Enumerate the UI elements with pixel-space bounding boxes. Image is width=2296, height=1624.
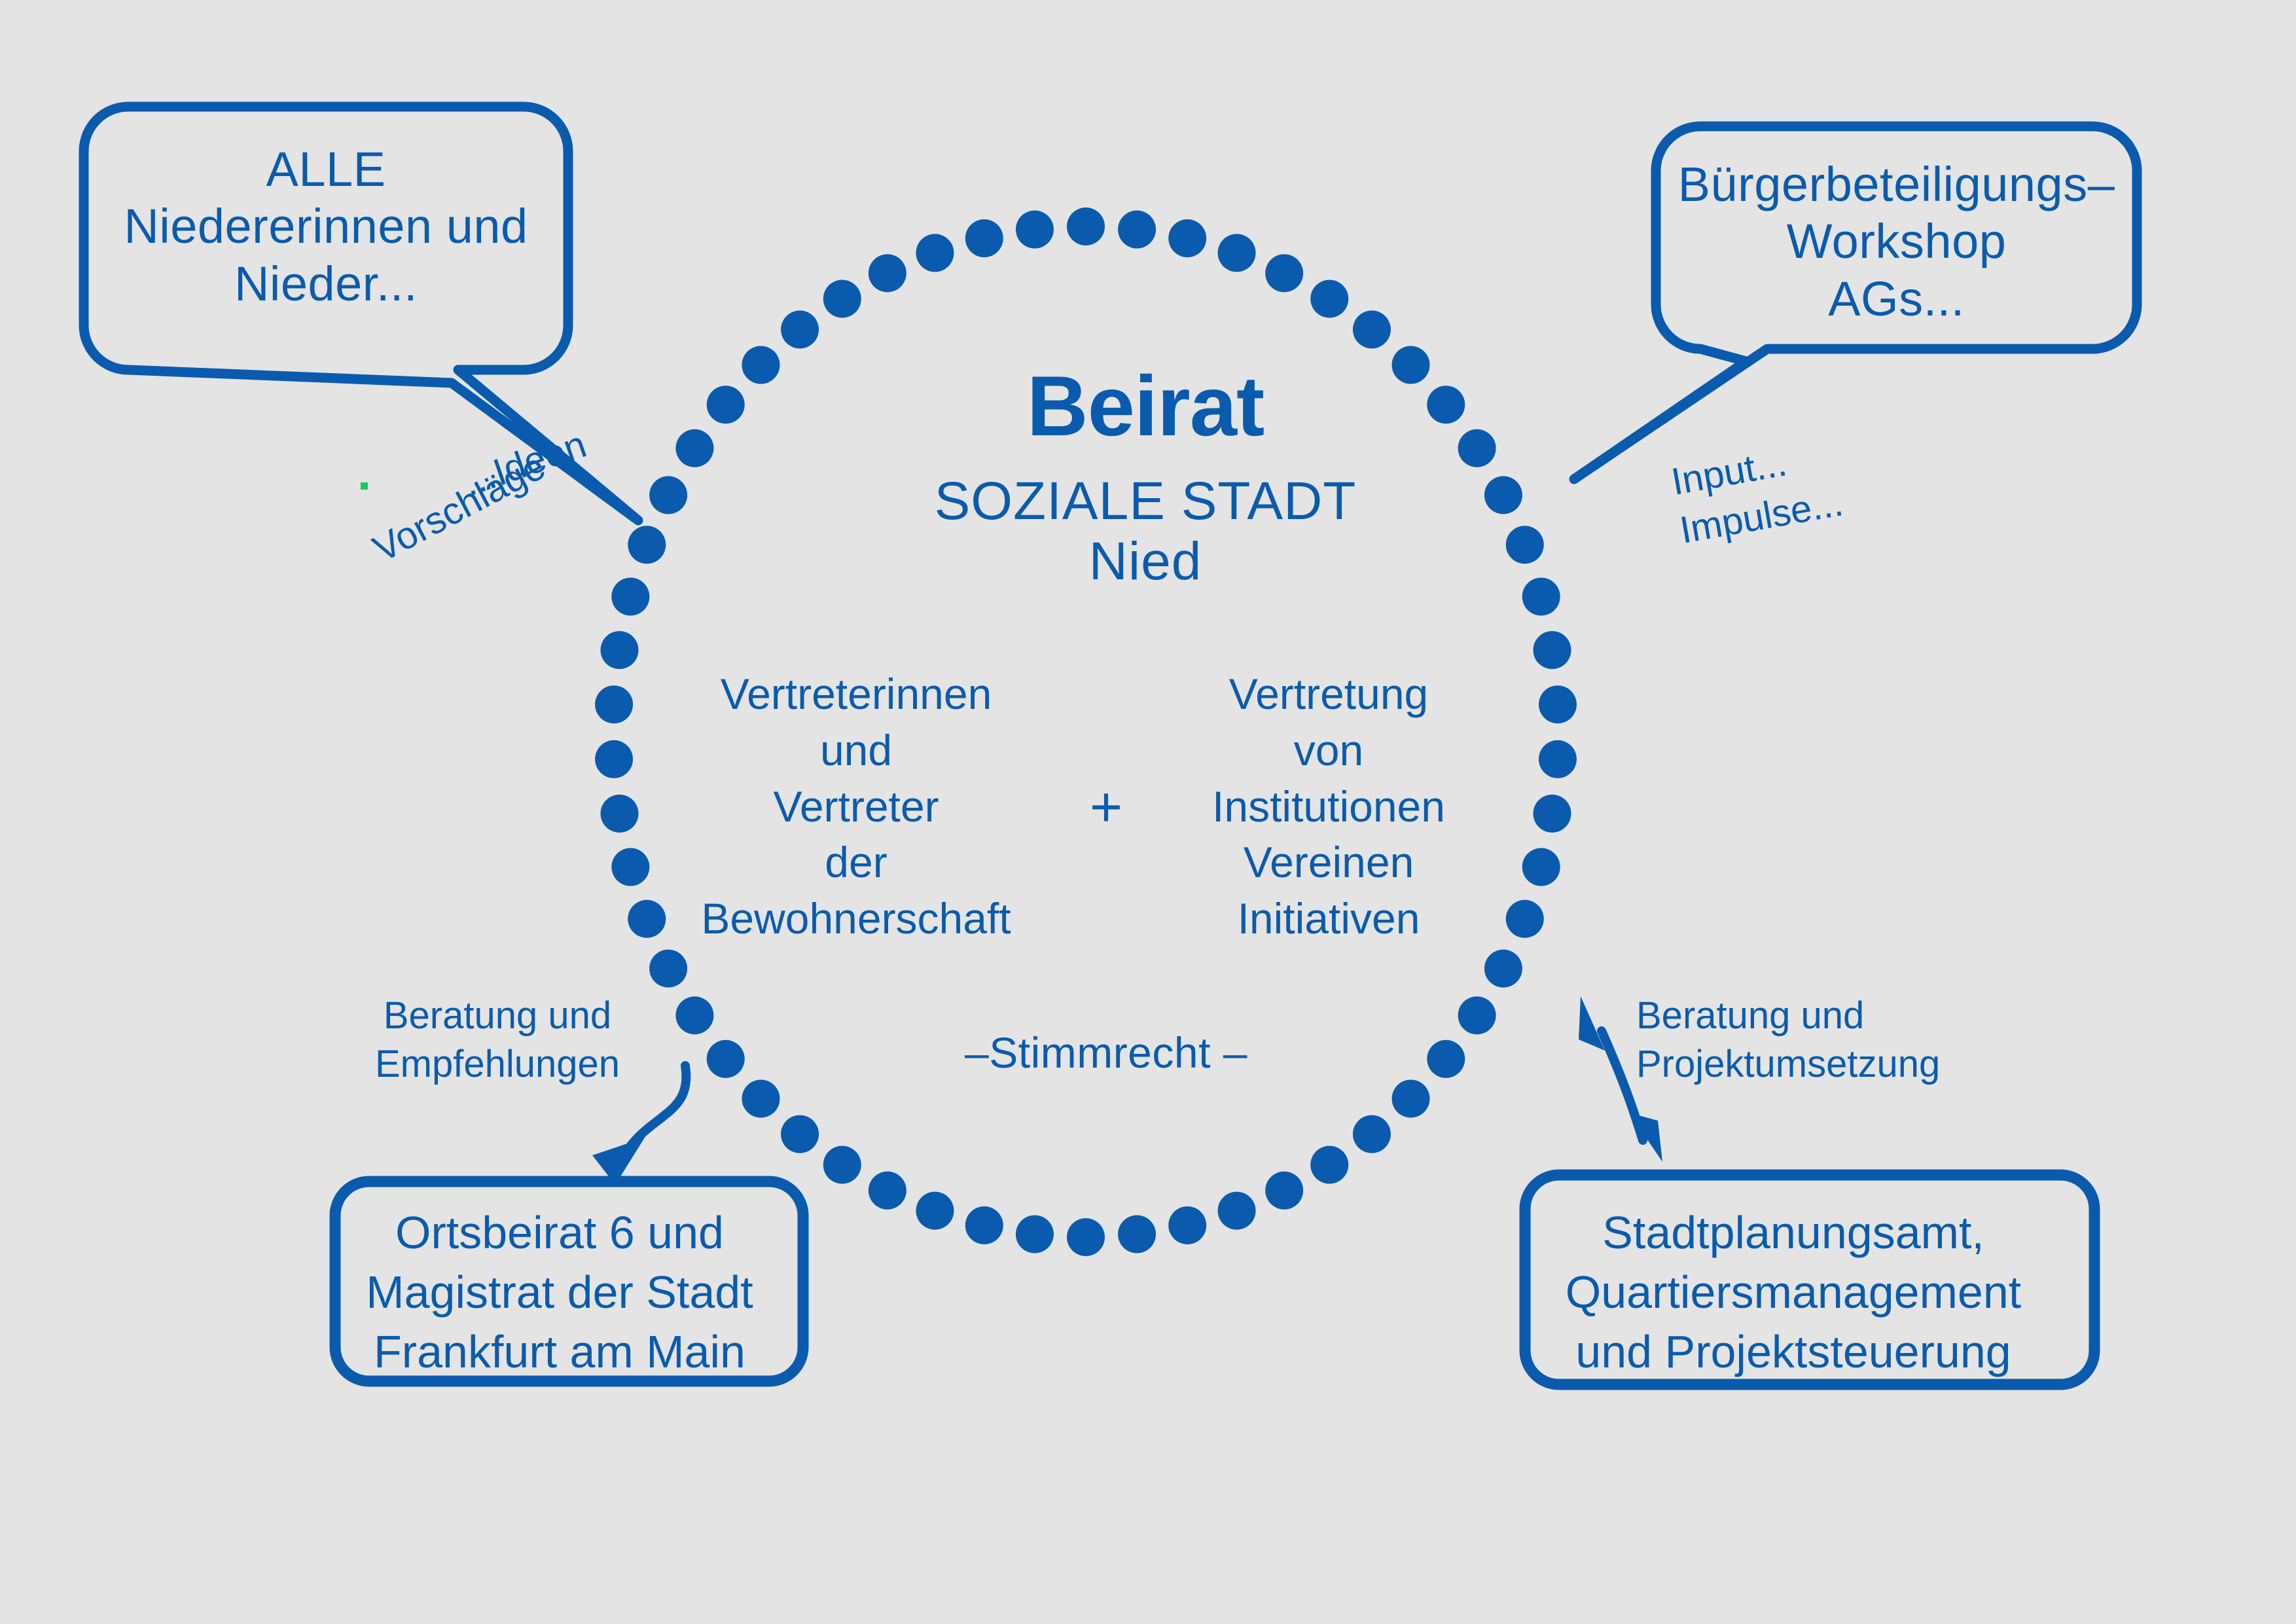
circle-dot: [649, 476, 687, 514]
bubble-left-line1: ALLE: [84, 141, 568, 198]
circle-dot: [628, 900, 666, 938]
center-subtitle: SOZIALE STADT Nied: [818, 471, 1473, 592]
text-line-1: Vertretung: [1172, 666, 1486, 723]
circle-dot: [1539, 740, 1577, 778]
text-line-2: und: [673, 723, 1039, 779]
speech-bubble-top-left: ALLE Niedererinnen und Nieder...: [84, 141, 568, 312]
center-title: Beirat: [851, 363, 1440, 448]
circle-dot: [611, 577, 649, 615]
circle-dot: [1168, 219, 1206, 257]
circle-dot: [1265, 254, 1303, 292]
circle-dot: [742, 1079, 780, 1117]
box-left-line2: Magistrat der Stadt: [331, 1263, 789, 1322]
center-column-right: VertretungvonInstitutionenVereinenInitia…: [1172, 666, 1486, 947]
speech-bubble-top-right: Bürgerbeteiligungs– Workshop AGs...: [1656, 156, 2137, 327]
text-line-5: Bewohnerschaft: [673, 891, 1039, 947]
circle-dot: [781, 310, 819, 348]
circle-dot: [1353, 310, 1391, 348]
arrowhead-up-right: [1579, 996, 1605, 1051]
text-line-3: Vertreter: [673, 779, 1039, 835]
diagram-canvas: ALLE Niedererinnen und Nieder... Bürgerb…: [0, 0, 2296, 1624]
circle-dot: [1016, 1215, 1054, 1253]
text-line-1: Vertreterinnen: [673, 666, 1039, 723]
circle-dot: [595, 685, 633, 723]
text-line-4: der: [673, 835, 1039, 891]
circle-dot: [1016, 211, 1054, 249]
text-line-5: Initiativen: [1172, 891, 1486, 947]
box-bottom-right: Stadtplanungsamt, Quartiersmanagement un…: [1525, 1203, 2062, 1382]
circle-dot: [1427, 1040, 1465, 1078]
bubble-left-line3: Nieder...: [84, 255, 568, 312]
box-right-line2: Quartiersmanagement: [1525, 1263, 2062, 1322]
box-left-line3: Frankfurt am Main: [331, 1322, 789, 1382]
circle-dot: [1118, 211, 1156, 249]
circle-dot: [823, 280, 861, 318]
circle-dot: [675, 996, 713, 1034]
bubble-right-line2: Workshop: [1656, 213, 2137, 270]
text-line-3: Institutionen: [1172, 779, 1486, 835]
annotation-beratung-right-line1: Beratung und: [1636, 992, 1964, 1040]
circle-dot: [1484, 476, 1522, 514]
circle-dot: [742, 346, 780, 384]
annotation-beratung-left-line2: Empfehlungen: [367, 1040, 628, 1089]
bubble-right-line1: Bürgerbeteiligungs–: [1656, 156, 2137, 213]
center-subtitle-line1: SOZIALE STADT: [818, 471, 1473, 532]
bubble-right-line3: AGs...: [1656, 270, 2137, 327]
circle-dot: [595, 740, 633, 778]
box-right-line1: Stadtplanungsamt,: [1525, 1203, 2062, 1263]
circle-dot: [1458, 429, 1496, 467]
circle-dot: [1533, 631, 1571, 669]
circle-dot: [1506, 526, 1544, 564]
circle-dot: [1522, 577, 1560, 615]
annotation-beratung-projektumsetzung: Beratung und Projektumsetzung: [1636, 992, 1964, 1089]
circle-dot: [611, 848, 649, 886]
center-column-left: VertreterinnenundVertreterderBewohnersch…: [673, 666, 1039, 947]
circle-dot: [1392, 1079, 1430, 1117]
circle-dot: [675, 429, 713, 467]
box-left-line1: Ortsbeirat 6 und: [331, 1203, 789, 1263]
annotation-beratung-empfehlungen: Beratung und Empfehlungen: [367, 992, 628, 1089]
circle-dot: [1506, 900, 1544, 938]
text-line-4: Vereinen: [1172, 835, 1486, 891]
circle-dot: [1458, 996, 1496, 1034]
annotation-beratung-left-line1: Beratung und: [367, 992, 628, 1040]
circle-dot: [649, 950, 687, 988]
box-right-line3: und Projektsteuerung: [1525, 1322, 2062, 1382]
circle-dot: [1265, 1172, 1303, 1210]
circle-dot: [965, 219, 1003, 257]
circle-dot: [781, 1115, 819, 1153]
arrow-beratung-empfehlungen: [628, 1066, 686, 1149]
circle-dot: [1484, 950, 1522, 988]
circle-dot: [869, 1172, 906, 1210]
circle-dot: [916, 234, 954, 272]
circle-dot: [1218, 1192, 1256, 1230]
circle-dot: [1067, 1218, 1105, 1256]
green-marker-dot: [361, 482, 368, 490]
circle-dot: [1310, 280, 1348, 318]
circle-dot: [869, 254, 906, 292]
circle-dot: [1310, 1146, 1348, 1183]
circle-dot: [1067, 208, 1105, 245]
bubble-left-line2: Niedererinnen und: [84, 198, 568, 255]
circle-dot: [823, 1146, 861, 1183]
circle-dot: [1168, 1206, 1206, 1244]
circle-dot: [1539, 685, 1577, 723]
circle-dot: [628, 526, 666, 564]
center-plus-operator: +: [1060, 779, 1152, 835]
circle-dot: [707, 386, 745, 424]
center-footer-stimmrecht: –Stimmrecht –: [903, 1031, 1309, 1074]
circle-dot: [1522, 848, 1560, 886]
circle-dot: [1533, 795, 1571, 833]
circle-dot: [1218, 234, 1256, 272]
circle-dot: [965, 1206, 1003, 1244]
circle-dot: [601, 795, 639, 833]
circle-dot: [707, 1040, 745, 1078]
circle-dot: [1353, 1115, 1391, 1153]
text-line-2: von: [1172, 723, 1486, 779]
center-subtitle-line2: Nied: [818, 532, 1473, 592]
annotation-beratung-right-line2: Projektumsetzung: [1636, 1040, 1964, 1089]
circle-dot: [1118, 1215, 1156, 1253]
circle-dot: [601, 631, 639, 669]
circle-dot: [916, 1192, 954, 1230]
box-bottom-left: Ortsbeirat 6 und Magistrat der Stadt Fra…: [331, 1203, 789, 1382]
